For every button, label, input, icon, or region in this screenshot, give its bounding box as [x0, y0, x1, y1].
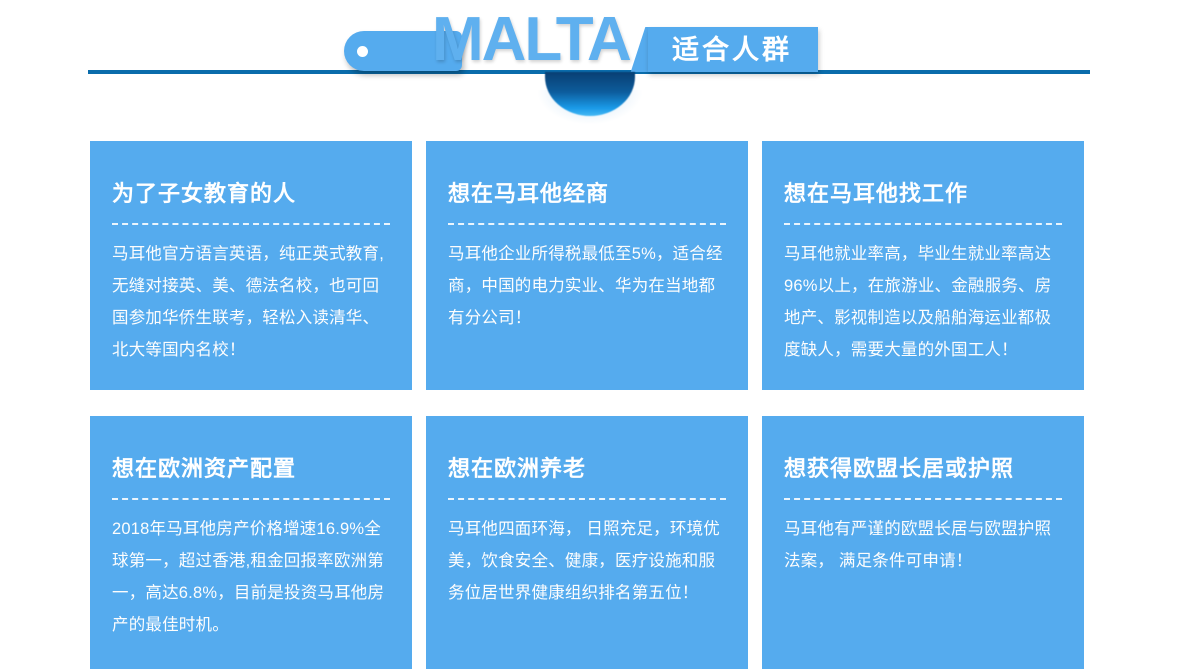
card-divider — [784, 223, 1062, 225]
card-row-top: 为了子女教育的人 马耳他官方语言英语，纯正英式教育,无缝对接英、美、德法名校，也… — [90, 141, 1086, 390]
card-title: 想在欧洲资产配置 — [112, 454, 390, 484]
audience-card-education[interactable]: 为了子女教育的人 马耳他官方语言英语，纯正英式教育,无缝对接英、美、德法名校，也… — [90, 141, 412, 390]
card-body: 马耳他企业所得税最低至5%，适合经商，中国的电力实业、华为在当地都有分公司！ — [448, 238, 726, 334]
card-divider — [448, 223, 726, 225]
card-body: 马耳他有严谨的欧盟长居与欧盟护照法案， 满足条件可申请！ — [784, 513, 1062, 577]
card-body: 马耳他就业率高，毕业生就业率高达96%以上，在旅游业、金融服务、房地产、影视制造… — [784, 238, 1062, 366]
card-divider — [784, 498, 1062, 500]
card-title: 想在马耳他找工作 — [784, 179, 1062, 209]
card-body: 马耳他四面环海， 日照充足，环境优美，饮食安全、健康，医疗设施和服务位居世界健康… — [448, 513, 726, 609]
pill-dot-icon — [357, 46, 368, 57]
card-title: 想在马耳他经商 — [448, 179, 726, 209]
audience-card-assets[interactable]: 想在欧洲资产配置 2018年马耳他房产价格增速16.9%全球第一，超过香港,租金… — [90, 416, 412, 669]
card-title: 想获得欧盟长居或护照 — [784, 454, 1062, 484]
card-title: 想在欧洲养老 — [448, 454, 726, 484]
card-divider — [448, 498, 726, 500]
audience-card-retirement[interactable]: 想在欧洲养老 马耳他四面环海， 日照充足，环境优美，饮食安全、健康，医疗设施和服… — [426, 416, 748, 669]
audience-card-business[interactable]: 想在马耳他经商 马耳他企业所得税最低至5%，适合经商，中国的电力实业、华为在当地… — [426, 141, 748, 390]
card-row-bottom: 想在欧洲资产配置 2018年马耳他房产价格增速16.9%全球第一，超过香港,租金… — [90, 416, 1086, 669]
card-title: 为了子女教育的人 — [112, 179, 390, 209]
card-divider — [112, 223, 390, 225]
page-header: MALTA 适合人群 — [0, 0, 1180, 120]
card-divider — [112, 498, 390, 500]
audience-card-grid: 为了子女教育的人 马耳他官方语言英语，纯正英式教育,无缝对接英、美、德法名校，也… — [90, 141, 1086, 669]
card-body: 2018年马耳他房产价格增速16.9%全球第一，超过香港,租金回报率欧洲第一，高… — [112, 513, 390, 641]
card-body: 马耳他官方语言英语，纯正英式教育,无缝对接英、美、德法名校，也可回国参加华侨生联… — [112, 238, 390, 366]
audience-card-residency[interactable]: 想获得欧盟长居或护照 马耳他有严谨的欧盟长居与欧盟护照法案， 满足条件可申请！ — [762, 416, 1084, 669]
section-title-panel: 适合人群 — [648, 27, 818, 72]
section-title-label: 适合人群 — [672, 33, 792, 67]
brand-wordmark: MALTA — [432, 8, 630, 72]
audience-card-jobs[interactable]: 想在马耳他找工作 马耳他就业率高，毕业生就业率高达96%以上，在旅游业、金融服务… — [762, 141, 1084, 390]
